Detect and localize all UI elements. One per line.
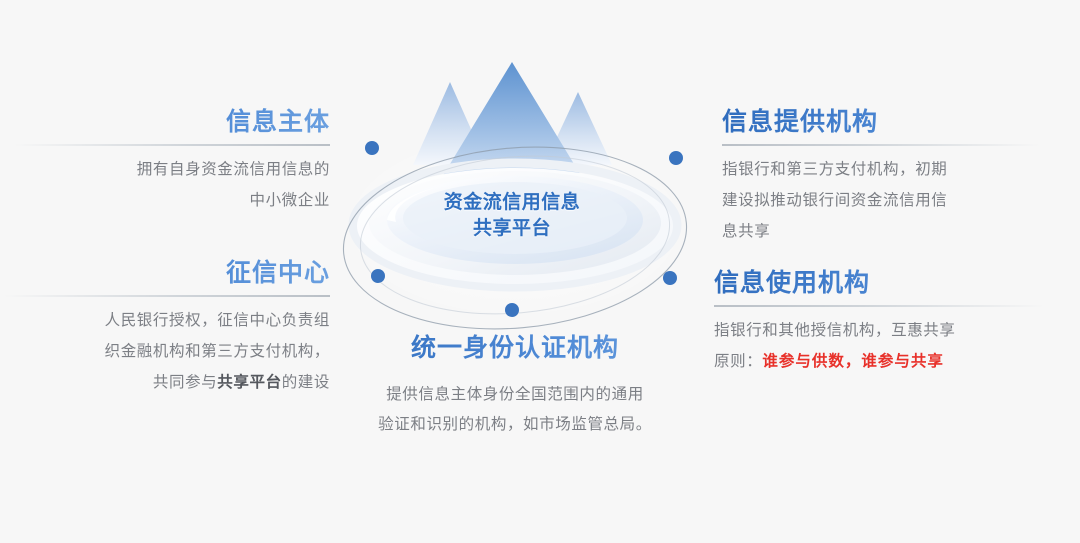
block-credit-center-body: 人民银行授权，征信中心负责组 织金融机构和第三方支付机构， 共同参与共享平台的建…	[4, 305, 330, 398]
title-underline	[722, 144, 1040, 146]
block-info-provider-title: 信息提供机构	[722, 107, 1040, 137]
orbit-node	[365, 141, 379, 155]
body-line: 原则：	[714, 353, 762, 370]
body-line: 提供信息主体身份全国范围内的通用	[386, 386, 644, 403]
block-identity-auth: 统一身份认证机构 提供信息主体身份全国范围内的通用 验证和识别的机构，如市场监管…	[330, 333, 700, 440]
block-info-subject-title: 信息主体	[14, 107, 330, 137]
platform-label-line2: 共享平台	[392, 216, 632, 242]
platform-label: 资金流信用信息 共享平台	[392, 190, 632, 242]
orbit-node	[371, 269, 385, 283]
block-identity-auth-title: 统一身份认证机构	[330, 333, 700, 363]
block-info-user: 信息使用机构 指银行和其他授信机构，互惠共享 原则：谁参与供数，谁参与共享	[714, 268, 1044, 377]
body-line: 人民银行授权，征信中心负责组	[105, 312, 330, 329]
orbit-node	[669, 151, 683, 165]
body-line: 中小微企业	[249, 192, 330, 209]
body-highlight: 谁参与供数，谁参与共享	[762, 353, 944, 370]
body-line: 拥有自身资金流信用信息的	[137, 161, 330, 178]
body-tail: 的建设	[282, 374, 330, 391]
body-line: 织金融机构和第三方支付机构，	[105, 343, 330, 360]
body-line: 指银行和其他授信机构，互惠共享	[714, 322, 956, 339]
block-info-subject-body: 拥有自身资金流信用信息的 中小微企业	[14, 154, 330, 216]
block-info-subject: 信息主体 拥有自身资金流信用信息的 中小微企业	[14, 107, 330, 216]
body-line: 共同参与	[153, 374, 217, 391]
orbit-node	[505, 303, 519, 317]
body-line: 验证和识别的机构，如市场监管总局。	[378, 416, 652, 433]
body-line: 息共享	[722, 223, 770, 240]
block-info-user-body: 指银行和其他授信机构，互惠共享 原则：谁参与供数，谁参与共享	[714, 315, 1044, 377]
body-emphasis: 共享平台	[217, 374, 281, 391]
block-info-provider: 信息提供机构 指银行和第三方支付机构，初期 建设拟推动银行间资金流信用信 息共享	[722, 107, 1040, 247]
body-line: 指银行和第三方支付机构，初期	[722, 161, 947, 178]
body-line: 建设拟推动银行间资金流信用信	[722, 192, 947, 209]
block-info-provider-body: 指银行和第三方支付机构，初期 建设拟推动银行间资金流信用信 息共享	[722, 154, 1040, 247]
block-credit-center-title: 征信中心	[4, 258, 330, 288]
orbit-node	[663, 271, 677, 285]
infographic-canvas: 资金流信用信息 共享平台 信息主体 拥有自身资金流信用信息的 中小微企业 征信中…	[0, 0, 1080, 543]
block-info-user-title: 信息使用机构	[714, 268, 1044, 298]
title-underline	[714, 305, 1044, 307]
title-underline	[4, 295, 330, 297]
title-underline	[14, 144, 330, 146]
center-graphic	[330, 30, 700, 340]
block-identity-auth-body: 提供信息主体身份全国范围内的通用 验证和识别的机构，如市场监管总局。	[330, 380, 700, 440]
block-credit-center: 征信中心 人民银行授权，征信中心负责组 织金融机构和第三方支付机构， 共同参与共…	[4, 258, 330, 398]
platform-label-line1: 资金流信用信息	[392, 190, 632, 216]
